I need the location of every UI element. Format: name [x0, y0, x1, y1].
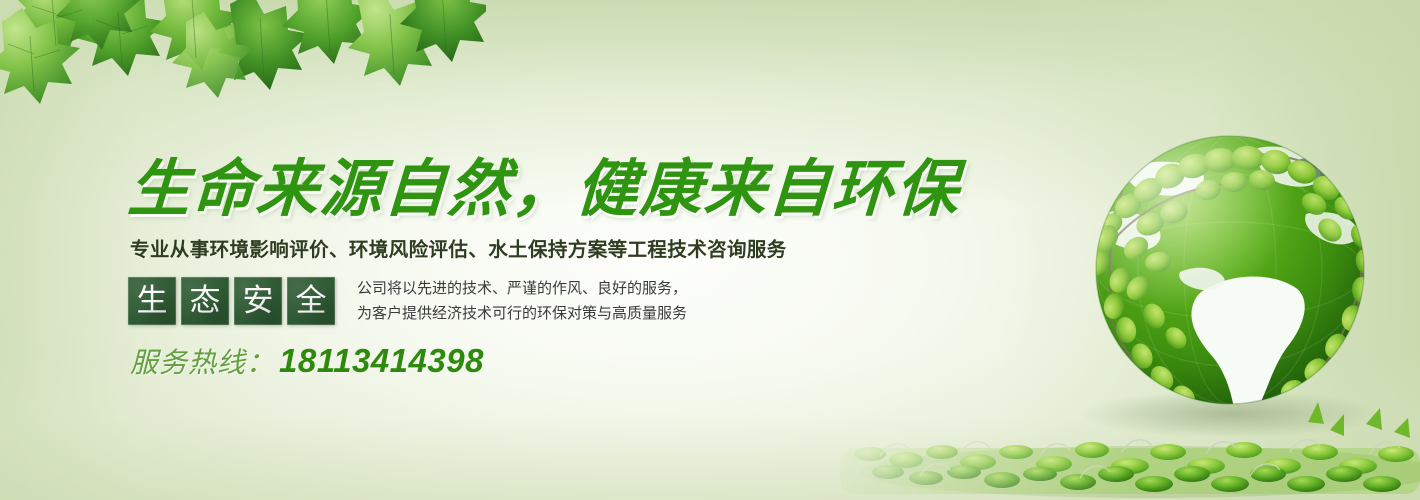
banner-content: 生命来源自然，健康来自环保 专业从事环境影响评价、环境风险评估、水土保持方案等工… — [128, 158, 868, 381]
stamp-char-2: 态 — [181, 277, 229, 325]
company-statement: 公司将以先进的技术、严谨的作风、良好的服务， 为客户提供经济技术可行的环保对策与… — [357, 276, 687, 327]
stamp-char-1: 生 — [128, 277, 176, 325]
eco-safety-stamps: 生 态 安 全 — [128, 277, 335, 325]
hotline-number[interactable]: 18113414398 — [279, 342, 484, 380]
stamp-char-3: 安 — [234, 277, 282, 325]
banner-subtitle: 专业从事环境影响评价、环境风险评估、水土保持方案等工程技术咨询服务 — [130, 233, 868, 262]
page-title: 生命来源自然，健康来自环保 — [126, 158, 869, 221]
stamp-char-4: 全 — [287, 277, 335, 325]
company-statement-line-1: 公司将以先进的技术、严谨的作风、良好的服务， — [357, 277, 687, 302]
service-hotline: 服务热线： 18113414398 — [130, 341, 868, 381]
company-statement-line-2: 为客户提供经济技术可行的环保对策与高质量服务 — [357, 302, 687, 327]
stamp-and-statement-row: 生 态 安 全 公司将以先进的技术、严谨的作风、良好的服务， 为客户提供经济技术… — [128, 276, 868, 327]
hotline-label: 服务热线： — [130, 341, 275, 381]
eco-consulting-banner: 生命来源自然，健康来自环保 专业从事环境影响评价、环境风险评估、水土保持方案等工… — [0, 0, 1420, 500]
